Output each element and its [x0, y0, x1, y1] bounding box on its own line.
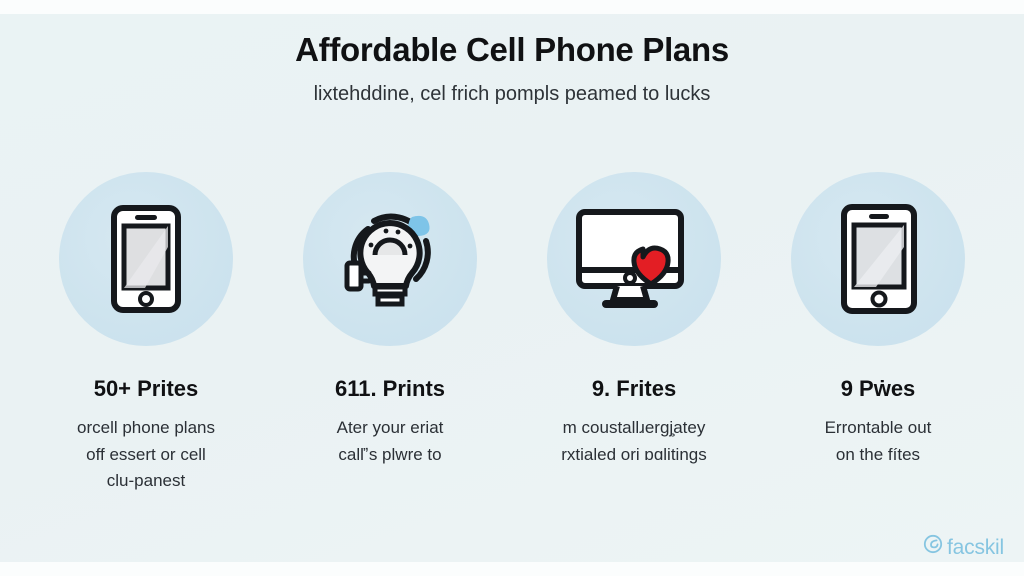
header: Affordable Cell Phone Plans lixtehddine,…	[0, 32, 1024, 106]
page-subtitle: lixtehddine, cel frich pompls peamed to …	[0, 82, 1024, 106]
icon-badge-4	[791, 172, 965, 346]
icon-badge-1	[59, 172, 233, 346]
feature-column-1: 50+ Prites orcell phone plans off essert…	[24, 172, 268, 494]
page-title: Affordable Cell Phone Plans	[0, 32, 1024, 68]
desc-line: Ater your eriat	[337, 415, 444, 441]
icon-badge-2	[303, 172, 477, 346]
desc-line: clu-panest	[77, 468, 215, 494]
circle-swirl-logo-icon	[923, 534, 943, 560]
stat-description-4: Errontable out on the fítes	[825, 415, 932, 468]
feature-column-3: 9. Frites m coustallɹergj̧atey rxtialed …	[512, 172, 756, 468]
icon-badge-3	[547, 172, 721, 346]
desc-line: on the fítes	[825, 442, 932, 468]
watermark-text: facskil	[947, 537, 1004, 558]
feature-columns: 50+ Prites orcell phone plans off essert…	[24, 172, 1000, 494]
smartphone-icon	[100, 203, 192, 315]
infographic-canvas: Affordable Cell Phone Plans lixtehddine,…	[0, 0, 1024, 576]
stat-description-2: Ater your eriat calľʼs plwre to	[337, 415, 444, 468]
desc-line: m coustallɹergj̧atey	[561, 415, 707, 441]
stat-value-2: 611. Prints	[335, 376, 445, 401]
feature-column-2: 611. Prints Ater your eriat calľʼs plwre…	[268, 172, 512, 468]
desc-line: Errontable out	[825, 415, 932, 441]
stat-value-3: 9. Frites	[592, 376, 676, 401]
stat-description-1: orcell phone plans off essert or cell cl…	[77, 415, 215, 494]
lightbulb-idea-icon	[334, 201, 446, 317]
feature-column-4: 9 Pẇes Errontable out on the fítes	[756, 172, 1000, 468]
stat-description-3: m coustallɹergj̧atey rxtialed ori ɒɑliti…	[561, 415, 707, 468]
desc-line: rxtialed ori ɒɑlitings	[561, 442, 707, 468]
watermark: facskil	[923, 534, 1004, 560]
stat-value-1: 50+ Prites	[94, 376, 199, 401]
monitor-heart-icon	[571, 204, 697, 314]
stat-value-4: 9 Pẇes	[841, 376, 916, 401]
tablet-icon	[830, 201, 926, 317]
desc-line: off essert or cell	[77, 442, 215, 468]
desc-line: orcell phone plans	[77, 415, 215, 441]
desc-line: calľʼs plwre to	[337, 442, 444, 468]
